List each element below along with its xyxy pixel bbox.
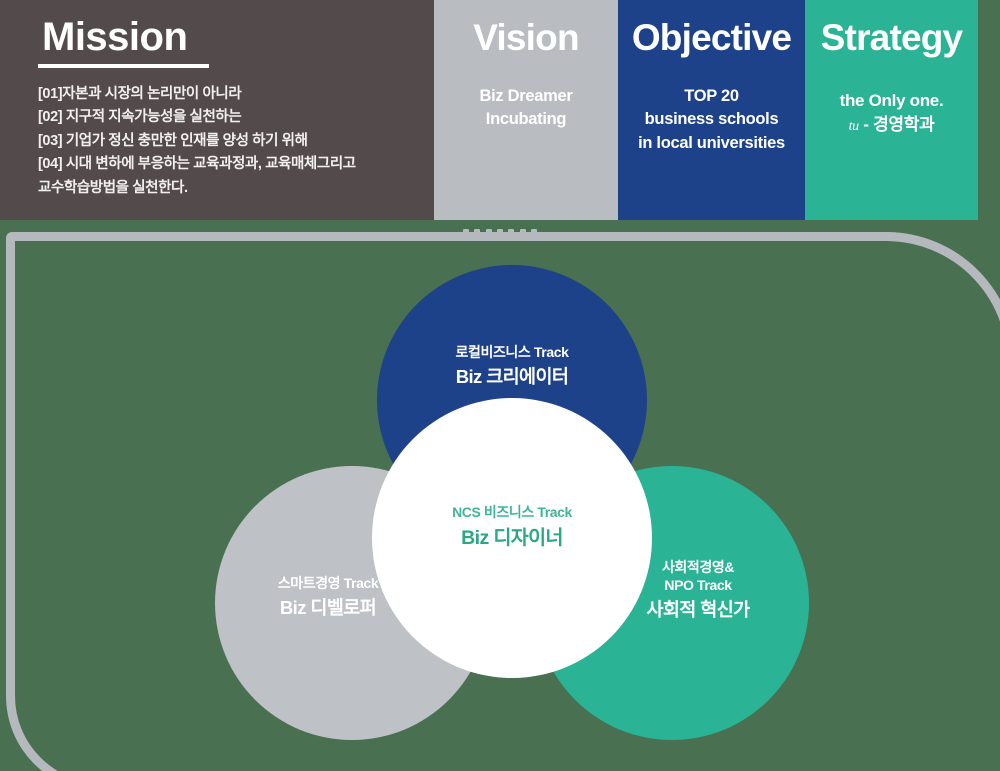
venn-circle-biz-designer[interactable]: NCS 비즈니스 Track Biz 디자이너 [372,398,652,678]
strategy-panel: Strategy the Only one. tu - 경영학과 [805,0,978,220]
objective-body: TOP 20 business schools in local univers… [632,85,791,155]
header-strip: Mission [01]자본과 시장의 논리만이 아니라 [02] 지구적 지속… [0,0,1000,220]
venn-diagram-stage: 스마트경영 Track Biz 디벨로퍼 사회적경영& NPO Track 사회… [0,220,1000,771]
mission-line: [02] 지구적 지속가능성을 실천하는 [38,106,434,129]
vision-panel: Vision Biz Dreamer Incubating [434,0,618,220]
connector-dot [508,229,514,235]
track-name: Biz 디자이너 [372,525,652,551]
objective-panel: Objective TOP 20 business schools in loc… [618,0,805,220]
connector-dot [474,229,480,235]
mission-line: [01]자본과 시장의 논리만이 아니라 [38,83,434,106]
connector-dot [486,229,492,235]
strategy-heading: Strategy [821,18,963,59]
mission-statement-list: [01]자본과 시장의 논리만이 아니라 [02] 지구적 지속가능성을 실천하… [38,83,434,200]
objective-body-line: business schools [638,108,785,131]
objective-body-line: TOP 20 [638,85,785,108]
track-label: 로컬비즈니스 Track [377,343,647,361]
connector-dot [463,229,469,235]
connector-dot [520,229,526,235]
mission-line: [03] 기업가 정신 충만한 인재를 양성 하기 위해 [38,130,434,153]
vision-body-line: Incubating [480,108,573,131]
strategy-sub-line: tu - 경영학과 [840,113,944,137]
connector-dot [531,229,537,235]
objective-body-line: in local universities [638,132,785,155]
track-name: Biz 크리에이터 [377,365,647,390]
strategy-body-line: the Only one. [840,89,944,113]
connector-dot [497,229,503,235]
dotted-connector [463,228,537,236]
objective-heading: Objective [632,18,791,59]
vision-heading: Vision [473,18,579,59]
header-tail-spacer [978,0,1000,220]
mission-title: Mission [38,16,209,68]
track-label: NCS 비즈니스 Track [372,503,652,521]
strategy-sub-text: - 경영학과 [859,115,935,134]
vision-body-line: Biz Dreamer [480,85,573,108]
strategy-body: the Only one. tu - 경영학과 [834,89,950,137]
mission-line: [04] 시대 변하에 부응하는 교육과정과, 교육매체그리고 교수학습방법을 … [38,153,434,200]
vision-body: Biz Dreamer Incubating [474,85,579,132]
tu-mark: tu [849,119,859,134]
mission-panel: Mission [01]자본과 시장의 논리만이 아니라 [02] 지구적 지속… [0,0,434,220]
